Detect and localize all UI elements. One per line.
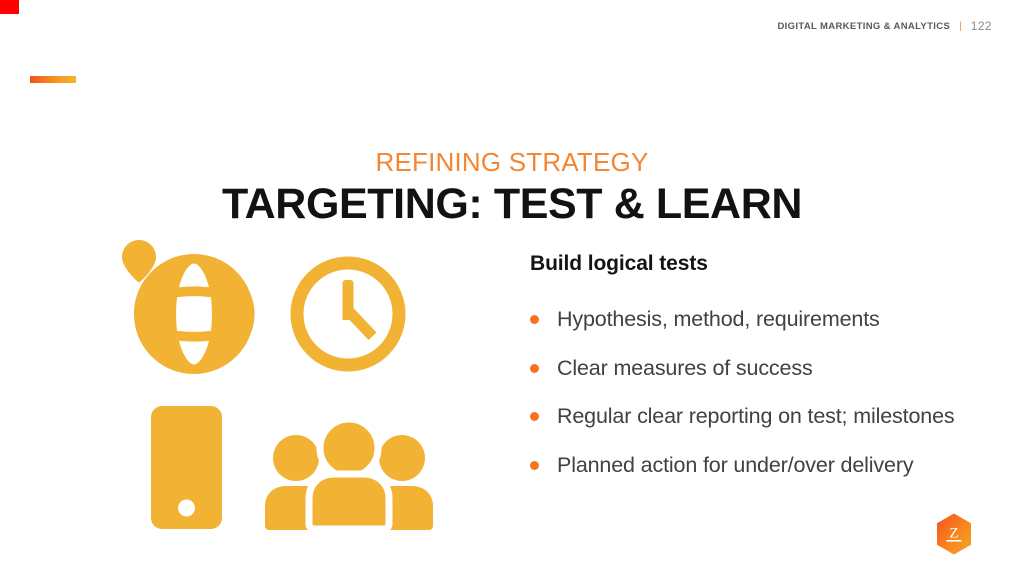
slide-header: DIGITAL MARKETING & ANALYTICS | 122 <box>777 19 992 33</box>
list-item: Hypothesis, method, requirements <box>530 306 1015 334</box>
clock-icon <box>286 252 410 376</box>
header-separator: | <box>959 21 962 32</box>
people-group-icon <box>259 420 439 532</box>
brand-logo: Z <box>934 512 974 557</box>
bullet-text: Hypothesis, method, requirements <box>557 306 880 334</box>
logo-letter: Z <box>949 526 958 542</box>
list-item: Regular clear reporting on test; milesto… <box>530 403 1015 431</box>
smartphone-icon <box>149 404 224 531</box>
header-section-label: DIGITAL MARKETING & ANALYTICS <box>777 21 950 32</box>
slide-eyebrow: REFINING STRATEGY <box>0 147 1024 178</box>
content-subheading: Build logical tests <box>530 252 1015 276</box>
list-item: Planned action for under/over delivery <box>530 452 1015 480</box>
content-column: Build logical tests Hypothesis, method, … <box>530 252 1015 500</box>
bullet-dot-icon <box>530 412 539 421</box>
icon-grid <box>104 232 454 532</box>
page-number: 122 <box>971 19 992 33</box>
bullet-text: Planned action for under/over delivery <box>557 452 913 480</box>
globe-location-icon <box>114 236 262 384</box>
bullet-text: Regular clear reporting on test; milesto… <box>557 403 954 431</box>
bullet-dot-icon <box>530 364 539 373</box>
corner-red-marker <box>0 0 19 14</box>
accent-gradient-bar <box>30 76 76 83</box>
list-item: Clear measures of success <box>530 355 1015 383</box>
bullet-dot-icon <box>530 315 539 324</box>
bullet-dot-icon <box>530 461 539 470</box>
bullet-text: Clear measures of success <box>557 355 813 383</box>
slide-canvas: DIGITAL MARKETING & ANALYTICS | 122 REFI… <box>0 0 1024 576</box>
page-title: TARGETING: TEST & LEARN <box>0 180 1024 229</box>
bullet-list: Hypothesis, method, requirements Clear m… <box>530 306 1015 479</box>
